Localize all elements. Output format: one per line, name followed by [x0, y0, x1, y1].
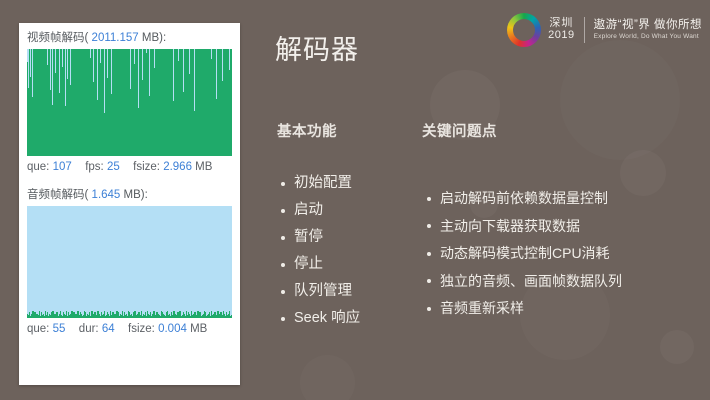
video-stat-value-2: 2.966: [163, 161, 192, 173]
page-title: 解码器: [275, 28, 359, 67]
conference-slogan: 遨游“视”界 做你所想 Explore World, Do What You W…: [594, 19, 702, 41]
video-chart-label: 视频帧解码( 2011.157 MB):: [19, 23, 240, 49]
list-item: 启动解码前依赖数据量控制: [425, 185, 622, 213]
video-stat-value-1: 25: [107, 161, 120, 173]
video-stats-line: que: 107 fps: 25 fsize: 2.966 MB: [19, 156, 240, 180]
bokeh-circle: [560, 40, 680, 160]
section-heading-basic-functions: 基本功能: [277, 120, 337, 141]
video-label-prefix: 视频帧解码(: [27, 32, 88, 44]
list-item: 动态解码模式控制CPU消耗: [425, 240, 622, 268]
audio-stat-unit-2: MB: [190, 323, 207, 335]
logo-divider: [584, 17, 585, 43]
chart-bar: [231, 315, 232, 318]
conference-city-year: 深圳 2019: [548, 18, 574, 41]
video-stat-key-2: fsize:: [133, 161, 160, 173]
list-item: 音频重新采样: [425, 295, 622, 323]
audio-stat-value-2: 0.004: [158, 323, 187, 335]
list-item: 暂停: [279, 224, 360, 251]
video-stat-unit-2: MB: [195, 161, 212, 173]
audio-stat-value-1: 64: [102, 323, 115, 335]
video-stat-key-1: fps:: [85, 161, 104, 173]
bokeh-circle: [620, 150, 666, 196]
conference-logo-bar: Live Video Stack con 深圳 2019 遨游“视”界 做你所想…: [507, 10, 702, 50]
list-item: 队列管理: [279, 278, 360, 305]
key-issues-list: 启动解码前依赖数据量控制 主动向下载器获取数据 动态解码模式控制CPU消耗 独立…: [425, 185, 622, 323]
audio-label-value: 1.645: [92, 189, 121, 201]
bokeh-circle: [300, 355, 355, 400]
slogan-chinese: 遨游“视”界 做你所想: [594, 19, 702, 32]
audio-stats-line: que: 55 dur: 64 fsize: 0.004 MB: [19, 318, 240, 342]
section-heading-key-issues: 关键问题点: [422, 120, 497, 141]
audio-chart-label: 音频帧解码( 1.645 MB):: [19, 180, 240, 206]
video-stat-value-0: 107: [53, 161, 72, 173]
video-stat-key-0: que:: [27, 161, 49, 173]
list-item: Seek 响应: [279, 305, 360, 332]
video-label-suffix: MB):: [142, 32, 166, 44]
list-item: 主动向下载器获取数据: [425, 213, 622, 241]
audio-stat-value-0: 55: [53, 323, 66, 335]
bokeh-circle: [660, 330, 694, 364]
basic-functions-list: 初始配置 启动 暂停 停止 队列管理 Seek 响应: [279, 170, 360, 332]
audio-label-prefix: 音频帧解码(: [27, 189, 88, 201]
audio-stat-key-2: fsize:: [128, 323, 155, 335]
logo-wordmark: Live Video Stack con: [514, 25, 534, 34]
video-frame-decode-chart: [27, 49, 232, 156]
list-item: 启动: [279, 197, 360, 224]
slogan-english: Explore World, Do What You Want: [594, 33, 702, 40]
presentation-slide: 视频帧解码( 2011.157 MB): que: 107 fps: 25 fs…: [0, 0, 710, 400]
audio-frame-decode-chart: [27, 206, 232, 318]
conference-year: 2019: [548, 30, 574, 42]
list-item: 初始配置: [279, 170, 360, 197]
list-item: 停止: [279, 251, 360, 278]
audio-stat-key-1: dur:: [79, 323, 99, 335]
audio-label-suffix: MB):: [124, 189, 148, 201]
chart-bar: [231, 49, 232, 156]
livevideostack-rainbow-logo-icon: Live Video Stack con: [507, 13, 541, 47]
decoder-stats-panel: 视频帧解码( 2011.157 MB): que: 107 fps: 25 fs…: [19, 23, 240, 385]
video-label-value: 2011.157: [92, 32, 139, 44]
audio-stat-key-0: que:: [27, 323, 49, 335]
list-item: 独立的音频、画面帧数据队列: [425, 268, 622, 296]
